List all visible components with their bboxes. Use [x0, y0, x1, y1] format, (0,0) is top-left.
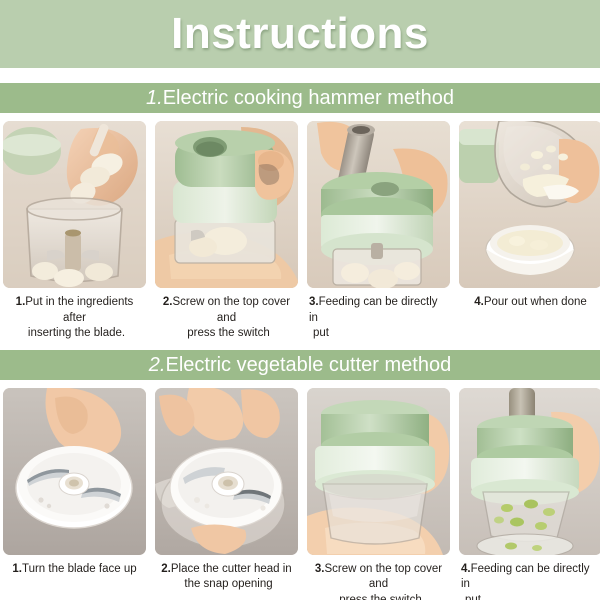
step-card-1-3: 3.Feeding can be directly in put	[307, 121, 450, 342]
section-title-1: 1.Electric cooking hammer method	[146, 88, 454, 108]
header-banner: Instructions	[0, 0, 600, 68]
page-title: Instructions	[171, 12, 429, 56]
step-image-hand-holding-garlic-cloves-over-chopper-bowl	[3, 121, 146, 288]
step-text2-2-4: put	[461, 593, 600, 600]
step-caption-2-1: 1.Turn the blade face up	[3, 562, 146, 578]
step-text-2-4: Feeding can be directly in	[461, 563, 590, 591]
illustration-place-cutter-head	[155, 388, 298, 555]
step-card-1-1: 1.Put in the ingredients after inserting…	[3, 121, 146, 342]
step-text-2-2: Place the cutter head in	[171, 563, 292, 575]
step-caption-1-3: 3.Feeding can be directly in put	[307, 295, 450, 342]
section-banner-1: 1.Electric cooking hammer method	[0, 83, 600, 113]
step-text-2-1: Turn the blade face up	[22, 563, 137, 575]
step-image-white-slicing-blade-disc-held-in-hand	[3, 388, 146, 555]
step-card-2-2: 2.Place the cutter head in the snap open…	[155, 388, 298, 600]
step-text-1-3: Feeding can be directly in	[309, 296, 438, 324]
illustration-feeding-tube	[307, 121, 450, 288]
step-caption-2-2: 2.Place the cutter head in the snap open…	[155, 562, 298, 593]
illustration-garlic-into-bowl	[3, 121, 146, 288]
step-image-green-cover-screwed-onto-cutter-container	[307, 388, 450, 555]
step-card-1-4: 4.Pour out when done	[459, 121, 600, 342]
step-text2-1-3: put	[309, 326, 448, 342]
section-number-1: 1.	[146, 87, 163, 109]
section-banner-2: 2.Electric vegetable cutter method	[0, 350, 600, 380]
illustration-screw-top-cover	[155, 121, 298, 288]
section-title-2: 2.Electric vegetable cutter method	[149, 355, 451, 375]
step-number-1-3: 3.	[309, 296, 319, 308]
step-number-2-2: 2.	[161, 563, 171, 575]
step-image-pouring-minced-garlic-into-white-bowl	[459, 121, 600, 288]
step-number-1-1: 1.	[16, 296, 26, 308]
step-caption-2-3: 3.Screw on the top cover and press the s…	[307, 562, 450, 600]
step-caption-1-2: 2.Screw on the top cover and press the s…	[155, 295, 298, 342]
instructions-page: Instructions 1.Electric cooking hammer m…	[0, 0, 600, 600]
step-number-2-4: 4.	[461, 563, 471, 575]
step-caption-1-4: 4.Pour out when done	[459, 295, 600, 311]
step-card-1-2: 2.Screw on the top cover and press the s…	[155, 121, 298, 342]
step-image-feeding-vegetables-through-tube-green-pieces	[459, 388, 600, 555]
section-divider	[0, 342, 600, 350]
step-image-green-top-cover-screwed-on-jar-in-hand	[155, 121, 298, 288]
step-card-2-1: 1.Turn the blade face up	[3, 388, 146, 600]
section-label-2: Electric vegetable cutter method	[165, 354, 451, 376]
header-divider	[0, 68, 600, 83]
step-number-2-1: 1.	[12, 563, 22, 575]
step-card-2-4: 4.Feeding can be directly in put	[459, 388, 600, 600]
section-label-1: Electric cooking hammer method	[163, 87, 454, 109]
illustration-screw-cover-cutter	[307, 388, 450, 555]
section-number-2: 2.	[149, 354, 166, 376]
step-caption-1-1: 1.Put in the ingredients after inserting…	[3, 295, 146, 342]
step-image-feeding-tube-inserted-into-top-cover	[307, 121, 450, 288]
step-text2-2-3: press the switch	[309, 593, 448, 600]
step-text2-2-2: the snap opening	[157, 577, 296, 593]
step-caption-2-4: 4.Feeding can be directly in put	[459, 562, 600, 600]
steps-row-1: 1.Put in the ingredients after inserting…	[0, 113, 600, 342]
step-text2-1-2: press the switch	[157, 326, 296, 342]
illustration-feeding-vegetables	[459, 388, 600, 555]
step-image-placing-cutter-disc-into-clear-container	[155, 388, 298, 555]
step-text2-1-1: inserting the blade.	[5, 326, 144, 342]
step-text-1-1: Put in the ingredients after	[25, 296, 133, 324]
steps-row-2: 1.Turn the blade face up	[0, 380, 600, 600]
step-text-1-4: Pour out when done	[484, 296, 587, 308]
illustration-blade-disc	[3, 388, 146, 555]
step-number-1-4: 4.	[474, 296, 484, 308]
step-text-1-2: Screw on the top cover and	[172, 296, 290, 324]
step-card-2-3: 3.Screw on the top cover and press the s…	[307, 388, 450, 600]
illustration-pour-out	[459, 121, 600, 288]
step-text-2-3: Screw on the top cover and	[324, 563, 442, 591]
